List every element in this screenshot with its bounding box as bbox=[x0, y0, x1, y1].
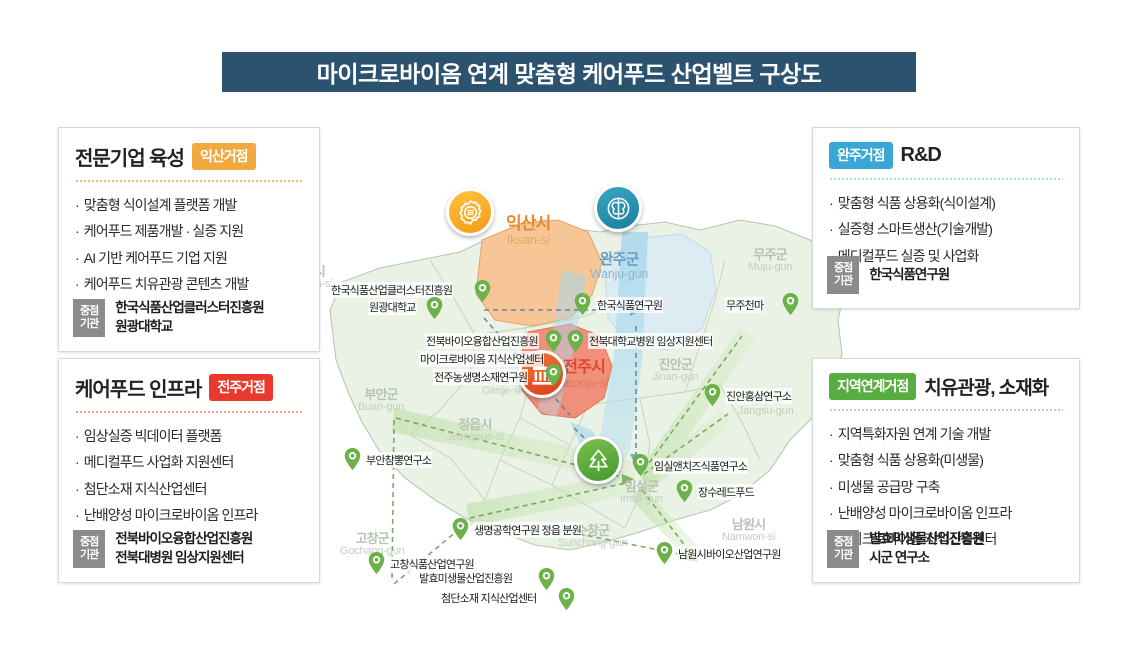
lead-org-tag: 중점 기관 bbox=[73, 530, 105, 568]
panel-bullet-list: 임상실증 빅데이터 플랫폼 메디컬푸드 사업화 지원센터 첨단소재 지식산업센터… bbox=[75, 423, 303, 528]
panel-badge-iksan: 익산거점 bbox=[192, 143, 256, 170]
panel-regional-linkage-hub[interactable]: 지역연계거점 치유관광, 소재화 지역특화자원 연계 기술 개발 맞춤형 식품 … bbox=[812, 358, 1080, 583]
hub-icon-iksan[interactable] bbox=[446, 188, 494, 236]
map-pin-icon[interactable] bbox=[538, 568, 555, 590]
lead-org-tag-line2: 기관 bbox=[80, 318, 98, 330]
lead-org-tag-line2: 기관 bbox=[834, 549, 852, 561]
divider bbox=[829, 178, 1063, 180]
bullet-item: 맞춤형 식품 상용화(미생물) bbox=[829, 447, 1063, 473]
map-pin-icon[interactable] bbox=[452, 518, 469, 540]
divider bbox=[75, 180, 303, 182]
map-marker-label-6: 전북대학교병원 임상지원센터 bbox=[588, 333, 713, 349]
bullet-item: 메디컬푸드 사업화 지원센터 bbox=[75, 449, 303, 475]
lead-org-names: 발효미생물산업진흥원 시군 연구소 bbox=[869, 530, 983, 567]
lead-org-tag-line1: 중점 bbox=[80, 305, 98, 317]
map-pin-icon[interactable] bbox=[558, 588, 575, 610]
province-map-svg bbox=[270, 160, 890, 610]
panel-heading: R&D bbox=[901, 144, 941, 167]
map-marker-label-12: 생명공학연구원 정읍 분원 bbox=[473, 522, 582, 538]
page-title-bar: 마이크로바이옴 연계 맞춤형 케어푸드 산업벨트 구상도 bbox=[222, 52, 916, 92]
lead-org-tag: 중점 기관 bbox=[73, 299, 105, 337]
bullet-item: 임상실증 빅데이터 플랫폼 bbox=[75, 423, 303, 449]
map-pin-icon[interactable] bbox=[574, 293, 591, 315]
bullet-item: 케어푸드 치유관광 콘텐츠 개발 bbox=[75, 271, 303, 297]
panel-bullet-list: 맞춤형 식이설계 플랫폼 개발 케어푸드 제품개발 · 실증 지원 AI 기반 … bbox=[75, 192, 303, 297]
bullet-item: 실증형 스마트생산(기술개발) bbox=[829, 216, 1063, 242]
lead-org-tag-line2: 기관 bbox=[80, 549, 98, 561]
map-marker-label-11: 부안참뽕연구소 bbox=[365, 452, 432, 468]
map-marker-label-7: 무주천마 bbox=[725, 297, 764, 313]
map-pin-icon[interactable] bbox=[474, 280, 491, 302]
map-marker-label-9: 임실앤치즈식품연구소 bbox=[653, 458, 748, 474]
bullet-item: AI 기반 케어푸드 기업 지원 bbox=[75, 245, 303, 271]
map-marker-label-10: 장수레드푸드 bbox=[697, 484, 755, 500]
panel-jeonju-hub[interactable]: 케어푸드 인프라 전주거점 임상실증 빅데이터 플랫폼 메디컬푸드 사업화 지원… bbox=[58, 358, 320, 583]
bullet-item: 맞춤형 식이설계 플랫폼 개발 bbox=[75, 192, 303, 218]
lead-org-names: 한국식품산업클러스터진흥원 원광대학교 bbox=[115, 299, 263, 336]
bullet-item: 난배양성 마이크로바이옴 인프라 bbox=[829, 500, 1063, 526]
lead-org-names: 전북바이오융합산업진흥원 전북대병원 임상지원센터 bbox=[115, 530, 252, 567]
lead-org-tag-line1: 중점 bbox=[834, 536, 852, 548]
map-pin-icon[interactable] bbox=[567, 330, 584, 352]
bullet-item: 미생물 공급망 구축 bbox=[829, 474, 1063, 500]
lead-org-line1: 발효미생물산업진흥원 bbox=[869, 531, 983, 546]
lead-org-line2: 원광대학교 bbox=[115, 319, 172, 334]
brain-icon bbox=[605, 195, 632, 222]
map-pin-icon[interactable] bbox=[368, 552, 385, 574]
tree-icon bbox=[585, 447, 612, 474]
map-canvas: 군산시 Gunsan-si 익산시 Iksan-si 완주군 Wanju-gun… bbox=[270, 160, 890, 610]
map-pin-icon[interactable] bbox=[704, 384, 721, 406]
panel-header: 지역연계거점 치유관광, 소재화 bbox=[829, 373, 1063, 408]
hub-icon-wanju[interactable] bbox=[594, 184, 642, 232]
map-marker-label-2: 한국식품연구원 bbox=[596, 297, 663, 313]
map-pin-icon[interactable] bbox=[545, 330, 562, 352]
map-marker-label-3: 전북바이오융합산업진흥원 bbox=[425, 333, 539, 349]
map-marker-label-0: 한국식품산업클러스터진흥원 bbox=[330, 282, 453, 298]
lead-organization-row: 중점 기관 발효미생물산업진흥원 시군 연구소 bbox=[827, 530, 1067, 568]
panel-heading: 케어푸드 인프라 bbox=[75, 373, 201, 402]
panel-wanju-hub[interactable]: 완주거점 R&D 맞춤형 식품 상용화(식이설계) 실증형 스마트생산(기술개발… bbox=[812, 127, 1080, 309]
map-marker-label-1: 원광대학교 bbox=[368, 299, 417, 315]
lead-org-tag: 중점 기관 bbox=[827, 530, 859, 568]
bullet-item: 첨단소재 지식산업센터 bbox=[75, 476, 303, 502]
map-pin-icon[interactable] bbox=[344, 448, 361, 470]
lead-org-tag: 중점 기관 bbox=[827, 256, 859, 294]
panel-header: 완주거점 R&D bbox=[829, 142, 1063, 177]
map-pin-icon[interactable] bbox=[656, 542, 673, 564]
panel-badge-jeonju: 전주거점 bbox=[209, 374, 273, 401]
bullet-item: 케어푸드 제품개발 · 실증 지원 bbox=[75, 218, 303, 244]
divider bbox=[75, 411, 303, 413]
map-pin-icon[interactable] bbox=[426, 297, 443, 319]
map-marker-label-5: 전주농생명소재연구원 bbox=[433, 369, 528, 385]
lead-organization-row: 중점 기관 한국식품산업클러스터진흥원 원광대학교 bbox=[73, 299, 307, 337]
bullet-item: 지역특화자원 연계 기술 개발 bbox=[829, 421, 1063, 447]
lead-org-names: 한국식품연구원 bbox=[869, 266, 949, 285]
lead-org-line2: 시군 연구소 bbox=[869, 550, 929, 565]
map-pin-icon[interactable] bbox=[676, 480, 693, 502]
map-marker-label-8: 진안홍삼연구소 bbox=[725, 388, 792, 404]
map-marker-label-16: 남원시바이오산업연구원 bbox=[677, 546, 782, 562]
lead-org-line2: 전북대병원 임상지원센터 bbox=[115, 550, 243, 565]
bullet-item: 난배양성 마이크로바이옴 인프라 bbox=[75, 502, 303, 528]
lead-org-line1: 전북바이오융합산업진흥원 bbox=[115, 531, 252, 546]
lead-org-tag-line1: 중점 bbox=[80, 536, 98, 548]
map-marker-label-15: 첨단소재 지식산업센터 bbox=[440, 590, 537, 606]
panel-heading: 전문기업 육성 bbox=[75, 142, 184, 171]
bullet-item: 맞춤형 식품 상용화(식이설계) bbox=[829, 190, 1063, 216]
map-pin-icon[interactable] bbox=[782, 293, 799, 315]
divider bbox=[829, 409, 1063, 411]
map-marker-label-4: 마이크로바이옴 지식산업센터 bbox=[419, 351, 544, 367]
panel-header: 전문기업 육성 익산거점 bbox=[75, 142, 303, 179]
lead-organization-row: 중점 기관 전북바이오융합산업진흥원 전북대병원 임상지원센터 bbox=[73, 530, 307, 568]
lead-org-line1: 한국식품연구원 bbox=[869, 267, 949, 282]
panel-iksan-hub[interactable]: 전문기업 육성 익산거점 맞춤형 식이설계 플랫폼 개발 케어푸드 제품개발 ·… bbox=[58, 127, 320, 352]
panel-badge-wanju: 완주거점 bbox=[829, 142, 893, 169]
panel-heading: 치유관광, 소재화 bbox=[924, 373, 1048, 400]
panel-badge-regional: 지역연계거점 bbox=[829, 373, 916, 400]
page-title: 마이크로바이옴 연계 맞춤형 케어푸드 산업벨트 구상도 bbox=[317, 55, 822, 89]
map-pin-icon[interactable] bbox=[632, 454, 649, 476]
map-marker-label-14: 발효미생물산업진흥원 bbox=[418, 570, 513, 586]
lead-org-tag-line1: 중점 bbox=[834, 262, 852, 274]
panel-header: 케어푸드 인프라 전주거점 bbox=[75, 373, 303, 410]
gear-icon bbox=[457, 199, 484, 226]
lead-org-tag-line2: 기관 bbox=[834, 275, 852, 287]
hub-icon-regional[interactable] bbox=[574, 436, 622, 484]
lead-org-line1: 한국식품산업클러스터진흥원 bbox=[115, 300, 263, 315]
map-pin-icon[interactable] bbox=[545, 364, 562, 386]
lead-organization-row: 중점 기관 한국식품연구원 bbox=[827, 256, 1067, 294]
